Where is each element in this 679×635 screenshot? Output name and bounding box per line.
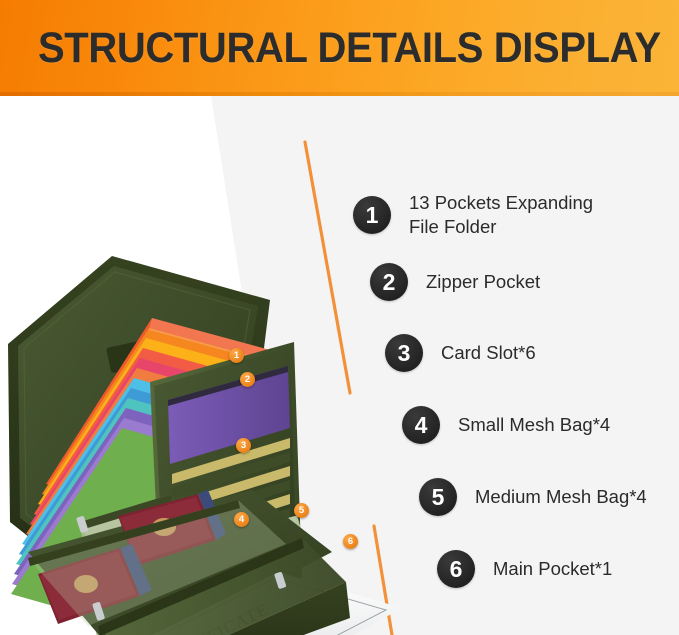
- legend-number-4: 4: [402, 406, 440, 444]
- header-banner: STRUCTURAL DETAILS DISPLAY: [0, 0, 679, 96]
- infographic-page: STRUCTURAL DETAILS DISPLAY: [0, 0, 679, 635]
- legend-label-4: Small Mesh Bag*4: [458, 413, 610, 437]
- callout-badge-4: 4: [234, 512, 249, 527]
- legend-label-1: 13 Pockets Expanding File Folder: [409, 191, 593, 239]
- content-area: CERTIFICATE 1 2 3 4 5 6: [0, 96, 679, 635]
- legend-item-1[interactable]: 1 13 Pockets Expanding File Folder: [353, 191, 593, 239]
- legend-label-6: Main Pocket*1: [493, 557, 612, 581]
- legend-item-3[interactable]: 3 Card Slot*6: [385, 334, 536, 372]
- product-image: CERTIFICATE 1 2 3 4 5 6: [2, 222, 402, 635]
- callout-badge-6: 6: [343, 534, 358, 549]
- legend-item-4[interactable]: 4 Small Mesh Bag*4: [402, 406, 610, 444]
- callout-badge-3: 3: [236, 438, 251, 453]
- legend-number-2: 2: [370, 263, 408, 301]
- product-illustration: CERTIFICATE: [2, 222, 402, 635]
- page-title: STRUCTURAL DETAILS DISPLAY: [38, 23, 661, 73]
- callout-badge-5: 5: [294, 503, 309, 518]
- legend-number-3: 3: [385, 334, 423, 372]
- legend-number-5: 5: [419, 478, 457, 516]
- legend-label-5: Medium Mesh Bag*4: [475, 485, 647, 509]
- callout-badge-1: 1: [229, 348, 244, 363]
- legend-label-2: Zipper Pocket: [426, 270, 540, 294]
- callout-badge-2: 2: [240, 372, 255, 387]
- legend-label-3: Card Slot*6: [441, 341, 536, 365]
- legend-item-5[interactable]: 5 Medium Mesh Bag*4: [419, 478, 647, 516]
- legend-item-2[interactable]: 2 Zipper Pocket: [370, 263, 540, 301]
- legend-item-6[interactable]: 6 Main Pocket*1: [437, 550, 612, 588]
- legend-number-6: 6: [437, 550, 475, 588]
- legend-number-1: 1: [353, 196, 391, 234]
